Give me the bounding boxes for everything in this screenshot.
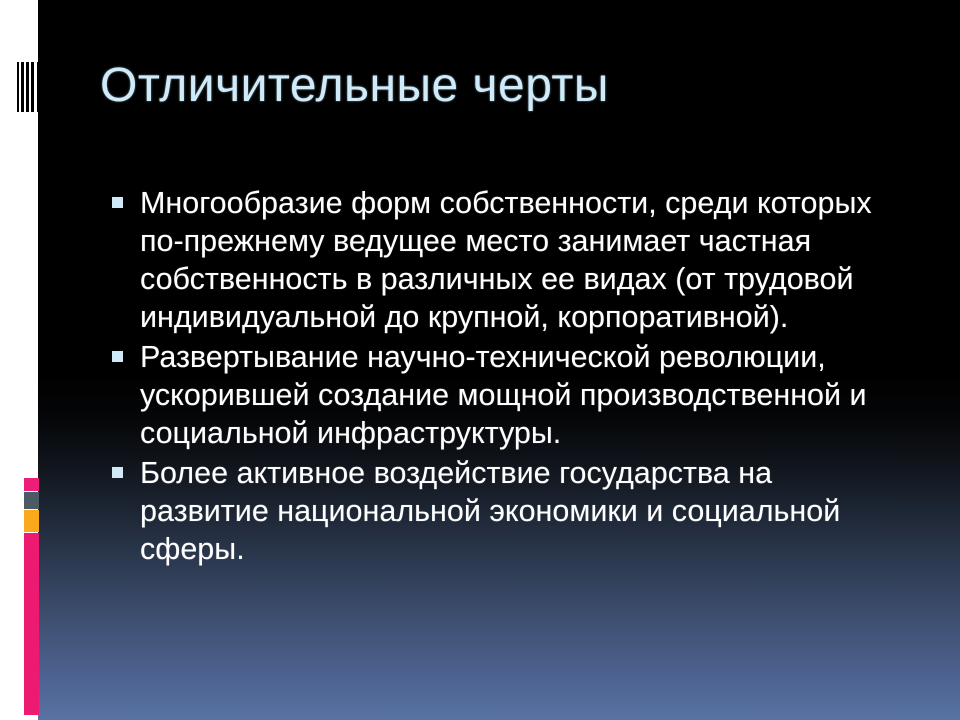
decorative-bar-line xyxy=(17,62,19,112)
decorative-pink-block-long xyxy=(24,533,39,715)
decorative-gray-block xyxy=(24,492,39,509)
square-bullet-icon xyxy=(112,197,123,208)
decorative-bar-line xyxy=(31,62,34,112)
decorative-bar-line xyxy=(26,62,29,112)
list-item-text: Развертывание научно-технической революц… xyxy=(140,338,902,452)
slide-title: Отличительные черты xyxy=(100,58,900,113)
decorative-pink-block-top xyxy=(24,478,39,491)
slide-bullet-list: Многообразие форм собственности, среди к… xyxy=(112,184,902,570)
decorative-bar-line xyxy=(37,62,43,112)
list-item-text: Многообразие форм собственности, среди к… xyxy=(140,184,902,336)
list-item-text: Более активное воздействие государства н… xyxy=(140,454,902,568)
decorative-orange-block xyxy=(24,510,39,532)
decorative-bar-line xyxy=(21,62,24,112)
square-bullet-icon xyxy=(112,351,123,362)
list-item: Многообразие форм собственности, среди к… xyxy=(112,184,902,336)
presentation-slide: Отличительные черты Многообразие форм со… xyxy=(0,0,960,720)
decorative-barcode-lines xyxy=(17,62,43,112)
list-item: Развертывание научно-технической революц… xyxy=(112,338,902,452)
square-bullet-icon xyxy=(112,467,123,478)
list-item: Более активное воздействие государства н… xyxy=(112,454,902,568)
